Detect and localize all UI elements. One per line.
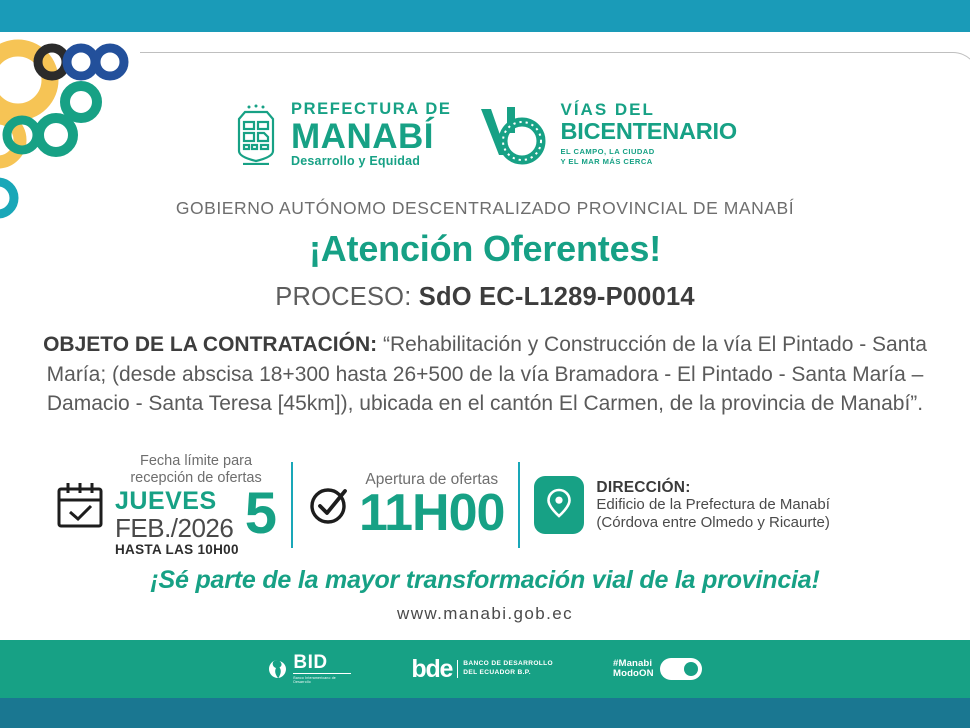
address-line-1: Edificio de la Prefectura de Manabí	[596, 496, 829, 514]
bid-logo: BID Banco Interamericano de Desarrollo	[268, 653, 351, 685]
deadline-until: HASTA LAS 10H00	[115, 543, 239, 557]
page-title: ¡Atención Oferentes!	[0, 228, 970, 270]
bde-line-1: BANCO DE DESARROLLO	[463, 660, 553, 669]
prefectura-line2: MANABÍ	[291, 119, 451, 154]
manabi-modo-on-logo: #Manabi ModoON	[613, 658, 702, 680]
bottom-color-band	[0, 698, 970, 728]
vb-tagline-2: Y EL MAR MÁS CERCA	[560, 157, 652, 166]
process-label: PROCESO:	[275, 283, 411, 311]
prefectura-manabi-wordmark: PREFECTURA DE MANABÍ Desarrollo y Equida…	[291, 101, 451, 167]
opening-cell: Apertura de ofertas 11H00	[307, 455, 504, 555]
process-line: PROCESO: SdO EC-L1289-P00014	[0, 283, 970, 312]
process-code: SdO EC-L1289-P00014	[419, 283, 695, 311]
info-divider-1	[291, 462, 293, 548]
header-logos: PREFECTURA DE MANABÍ Desarrollo y Equida…	[0, 88, 970, 180]
vb-tagline-1: EL CAMPO, LA CIUDAD	[560, 147, 654, 156]
deadline-cell: Fecha límite para recepción de ofertas J…	[55, 455, 277, 555]
info-bar: Fecha límite para recepción de ofertas J…	[55, 455, 935, 555]
prefectura-manabi-logo: PREFECTURA DE MANABÍ Desarrollo y Equida…	[233, 101, 451, 167]
address-cell: DIRECCIÓN: Edificio de la Prefectura de …	[534, 455, 829, 555]
modo-line-2: ModoON	[613, 669, 654, 680]
calendar-check-icon	[55, 480, 105, 530]
opening-time: 11H00	[359, 488, 504, 538]
map-pin-icon	[546, 488, 572, 522]
vb-monogram-icon	[477, 103, 551, 165]
opening-text: Apertura de ofertas 11H00	[359, 472, 504, 539]
poster-canvas: PREFECTURA DE MANABÍ Desarrollo y Equida…	[0, 0, 970, 728]
campaign-slogan: ¡Sé parte de la mayor transformación via…	[0, 566, 970, 595]
deadline-text: Fecha límite para recepción de ofertas J…	[115, 453, 277, 557]
prefectura-line1: PREFECTURA DE	[291, 101, 451, 118]
map-pin-badge	[534, 476, 584, 534]
deadline-caption-2: recepción de ofertas	[130, 470, 261, 486]
deadline-weekday: JUEVES	[115, 489, 239, 514]
toggle-on-icon	[660, 658, 702, 680]
institution-name: GOBIERNO AUTÓNOMO DESCENTRALIZADO PROVIN…	[0, 198, 970, 219]
vb-line2: BICENTENARIO	[560, 120, 736, 144]
bde-logo: bde BANCO DE DESARROLLO DEL ECUADOR B.P.	[411, 658, 553, 680]
deadline-day: 5	[245, 491, 277, 537]
prefectura-line3: Desarrollo y Equidad	[291, 155, 451, 168]
vb-line1: VÍAS DEL	[560, 101, 736, 118]
deadline-caption-1: Fecha límite para	[140, 453, 252, 469]
clock-check-icon	[307, 482, 353, 528]
top-color-band	[0, 0, 970, 32]
address-text: DIRECCIÓN: Edificio de la Prefectura de …	[596, 479, 829, 532]
shield-building-icon	[233, 103, 279, 165]
info-divider-2	[518, 462, 520, 548]
address-line-2: (Córdova entre Olmedo y Ricaurte)	[596, 514, 829, 532]
vias-bicentenario-wordmark: VÍAS DEL BICENTENARIO EL CAMPO, LA CIUDA…	[560, 101, 736, 167]
contract-object-label: OBJETO DE LA CONTRATACIÓN:	[43, 333, 377, 356]
contract-object: OBJETO DE LA CONTRATACIÓN: “Rehabilitaci…	[35, 330, 935, 419]
bid-globe-icon	[268, 659, 288, 679]
bid-name: BID	[293, 653, 351, 672]
footer-logos: BID Banco Interamericano de Desarrollo b…	[0, 640, 970, 698]
toggle-knob	[684, 662, 698, 676]
deadline-month-year: FEB./2026	[115, 515, 239, 541]
vias-bicentenario-logo: VÍAS DEL BICENTENARIO EL CAMPO, LA CIUDA…	[477, 101, 736, 167]
website-url[interactable]: www.manabi.gob.ec	[0, 604, 970, 624]
bid-subtitle: Banco Interamericano de Desarrollo	[293, 673, 351, 685]
bde-name: bde	[411, 658, 452, 680]
bde-line-2: DEL ECUADOR B.P.	[463, 669, 553, 678]
address-label: DIRECCIÓN:	[596, 479, 829, 497]
